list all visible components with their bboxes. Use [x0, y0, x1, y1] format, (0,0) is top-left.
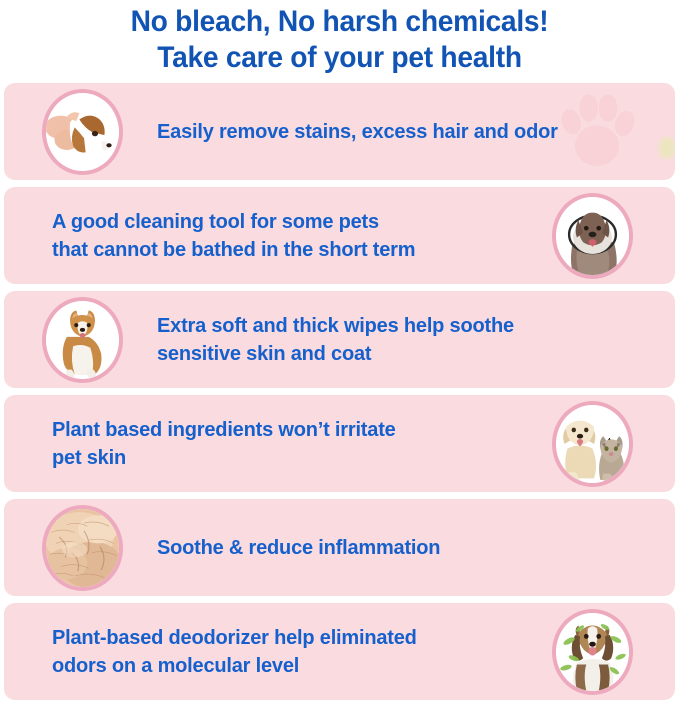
feature-text-line: Extra soft and thick wipes help soothe: [157, 312, 661, 340]
feature-row: Soothe & reduce inflammation: [4, 499, 675, 596]
feature-row: Easily remove stains, excess hair and od…: [4, 83, 675, 180]
feature-text: A good cleaning tool for some petsthat c…: [52, 208, 538, 264]
headline-line-1: No bleach, No harsh chemicals!: [20, 4, 658, 40]
feature-text-line: Easily remove stains, excess hair and od…: [157, 118, 661, 146]
green-accent-blob: [659, 137, 675, 159]
dog-ear-cleaning-photo: [42, 89, 123, 175]
feature-text-line: Plant-based deodorizer help eliminated: [52, 624, 538, 652]
beagle-with-leaves-photo: [552, 609, 633, 695]
feature-text: Soothe & reduce inflammation: [157, 534, 661, 562]
feature-text-line: that cannot be bathed in the short term: [52, 236, 538, 264]
feature-row: A good cleaning tool for some petsthat c…: [4, 187, 675, 284]
photo-artwork: [46, 93, 119, 171]
photo-artwork: [556, 405, 629, 483]
corgi-photo: [42, 297, 123, 383]
feature-text-line: Soothe & reduce inflammation: [157, 534, 661, 562]
photo-artwork: [556, 613, 629, 691]
puppy-and-kitten-photo: [552, 401, 633, 487]
feature-text-line: Plant based ingredients won’t irritate: [52, 416, 538, 444]
photo-artwork: [46, 301, 119, 379]
feature-text-line: pet skin: [52, 444, 538, 472]
feature-text: Plant based ingredients won’t irritatepe…: [52, 416, 538, 472]
irritated-pet-skin-photo: [42, 505, 123, 591]
feature-row: Plant-based deodorizer help eliminatedod…: [4, 603, 675, 700]
feature-text-line: odors on a molecular level: [52, 652, 538, 680]
feature-text-line: sensitive skin and coat: [157, 340, 661, 368]
photo-artwork: [556, 197, 629, 275]
feature-text: Plant-based deodorizer help eliminatedod…: [52, 624, 538, 680]
feature-row: Plant based ingredients won’t irritatepe…: [4, 395, 675, 492]
feature-row: Extra soft and thick wipes help soothese…: [4, 291, 675, 388]
headline-block: No bleach, No harsh chemicals! Take care…: [0, 0, 679, 76]
headline-line-2: Take care of your pet health: [20, 40, 658, 76]
shaggy-dog-with-cone-photo: [552, 193, 633, 279]
feature-text-line: A good cleaning tool for some pets: [52, 208, 538, 236]
feature-text: Easily remove stains, excess hair and od…: [157, 118, 661, 146]
photo-artwork: [46, 509, 119, 587]
feature-text: Extra soft and thick wipes help soothese…: [157, 312, 661, 368]
feature-list: Easily remove stains, excess hair and od…: [0, 83, 679, 700]
